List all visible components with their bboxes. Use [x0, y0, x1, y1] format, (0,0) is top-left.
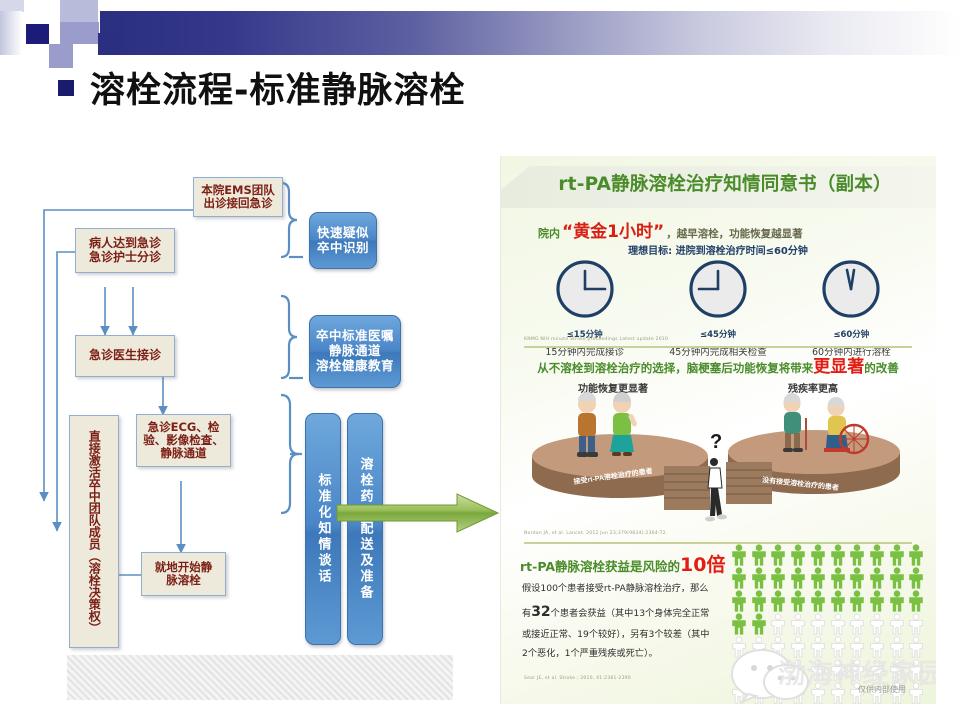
header-gradient-band	[100, 11, 960, 55]
person-icon-benefit	[868, 544, 886, 566]
person-icon-benefit	[789, 590, 807, 612]
clock-icon-15min	[554, 258, 616, 320]
flow-blue-informed-consent-text: 标准化知情谈话	[317, 473, 330, 585]
reference-section3: Sear JE, et al. Stroke ; 2010, 41:2381-2…	[524, 676, 631, 681]
person-icon-benefit	[789, 544, 807, 566]
person-icon-benefit	[809, 544, 827, 566]
person-icon-benefit	[769, 567, 787, 589]
flow-blue-rapid-recognition-text: 快速疑似卒中识别	[317, 226, 369, 256]
section3-body-line4: 2个恶化，1个严重残疾或死亡）。	[522, 645, 730, 663]
person-icon-neutral	[809, 613, 827, 635]
flow-box-er-doctor: 急诊医生接诊	[75, 335, 175, 377]
watermark-note: 仅供内部使用	[858, 684, 906, 695]
section2-title: 从不溶栓到溶栓治疗的选择，脑梗塞后功能恢复将带来更显著的改善	[500, 352, 936, 377]
section3-title-prefix: rt-PA静脉溶栓获益是风险的	[520, 556, 680, 575]
flow-box-ecg-labs: 急诊ECG、检验、影像检查、静脉通道	[136, 414, 231, 467]
clock-row: ≤15分钟 15分钟内完成接诊 ≤45分钟 45分钟内完成相关检查 ≤60分	[518, 258, 918, 358]
page-title-text: 溶栓流程-标准静脉溶栓	[90, 62, 466, 113]
flow-box-er-doctor-text: 急诊医生接诊	[89, 349, 161, 362]
flow-box-activate-team: 直接激活卒中团队成员（溶栓决策权）	[69, 415, 119, 648]
person-icon-benefit	[750, 590, 768, 612]
person-icon-benefit	[730, 590, 748, 612]
divider-1	[524, 346, 912, 348]
section3-body: 假设100个患者接受rt-PA静脉溶栓治疗，那么 有32个患者会获益（其中13个…	[522, 580, 730, 663]
person-icon-benefit	[888, 544, 906, 566]
person-icon-benefit	[829, 567, 847, 589]
person-icon-neutral	[868, 613, 886, 635]
section2-title-suffix: 的改善	[864, 361, 899, 375]
clock-icon-45min	[687, 258, 749, 320]
person-icon-benefit	[809, 567, 827, 589]
flow-box-arrival: 病人达到急诊急诊护士分诊	[75, 228, 175, 273]
header-deco-square-3	[24, 0, 44, 22]
person-icon-benefit	[750, 613, 768, 635]
person-icon-benefit	[868, 567, 886, 589]
clock-icon-60min	[820, 258, 882, 320]
podium-illustration: 接受rt-PA溶栓治疗的患者	[514, 392, 924, 544]
header-deco-square-4	[60, 0, 98, 22]
person-icon-neutral	[769, 613, 787, 635]
clock-cell-45: ≤45分钟 45分钟内完成相关检查	[658, 258, 778, 358]
question-mark-icon: ?	[710, 431, 722, 453]
person-icon-benefit	[907, 567, 925, 589]
section3-benefit-count: 32	[531, 604, 550, 620]
flow-blue-rapid-recognition: 快速疑似卒中识别	[309, 212, 377, 269]
person-icon-benefit	[769, 544, 787, 566]
watermark-brand: 渤海神经家园	[778, 652, 936, 691]
header-deco-square-navy	[26, 24, 49, 44]
person-icon-benefit	[750, 567, 768, 589]
flow-box-ecg-labs-text: 急诊ECG、检验、影像检查、静脉通道	[143, 421, 224, 460]
flow-box-activate-team-text: 直接激活卒中团队成员（溶栓决策权）	[88, 430, 101, 634]
consent-document-image: rt-PA静脉溶栓治疗知情同意书（副本） 院内 “黄金1小时” ，越早溶栓，功能…	[500, 156, 936, 704]
flow-box-arrival-text: 病人达到急诊急诊护士分诊	[89, 237, 161, 264]
reference-section2: Nordan JA, et al. Lancet. 2012 Jun 23;37…	[524, 531, 668, 536]
flow-blue-stroke-orders: 卒中标准医嘱静脉通道溶栓健康教育	[309, 315, 401, 388]
person-icon-neutral	[907, 613, 925, 635]
person-icon-benefit	[730, 544, 748, 566]
person-icon-neutral	[829, 613, 847, 635]
section3-title: rt-PA静脉溶栓获益是风险的10倍	[520, 550, 725, 577]
person-icon-benefit	[848, 544, 866, 566]
section3-title-highlight: 10倍	[680, 550, 725, 577]
flow-box-start-iv: 就地开始静脉溶栓	[141, 552, 226, 596]
flow-blue-stroke-orders-text: 卒中标准医嘱静脉通道溶栓健康教育	[316, 329, 394, 373]
header-deco-square-9	[98, 33, 120, 55]
flow-box-start-iv-text: 就地开始静脉溶栓	[155, 561, 213, 587]
person-icon-benefit	[730, 567, 748, 589]
clock-cell-60: ≤60分钟 60分钟内进行溶栓	[791, 258, 911, 358]
thrombolysis-workflow-diagram: 本院EMS团队出诊接回急诊 病人达到急诊急诊护士分诊 急诊医生接诊 急诊ECG、…	[33, 163, 453, 700]
slide-root: 溶栓流程-标准静脉溶栓	[0, 0, 960, 720]
section3-body-line1: 假设100个患者接受rt-PA静脉溶栓治疗，那么	[522, 580, 730, 598]
section2-title-highlight: 更显著	[813, 357, 864, 377]
golden-hour-highlight: “黄金1小时”	[562, 217, 664, 242]
person-icon-benefit	[868, 590, 886, 612]
square-bullet-icon	[58, 80, 74, 96]
person-icon-benefit	[888, 567, 906, 589]
person-icon-benefit	[907, 544, 925, 566]
flow-box-ems-line1: 本院EMS团队出诊接回急诊	[201, 184, 275, 210]
reference-section1: KNMG NIH minute Stroke proceedings Lates…	[524, 337, 668, 342]
golden-hour-line: 院内 “黄金1小时” ，越早溶栓，功能恢复越显著	[538, 217, 803, 242]
person-icon-benefit	[848, 590, 866, 612]
person-icon-benefit	[848, 567, 866, 589]
header-deco-square-6	[73, 22, 99, 44]
person-icon-benefit	[888, 590, 906, 612]
section3-body-line3: 或接近正常、19个较好），另有3个较差（其中	[522, 626, 730, 644]
person-icon-benefit	[809, 590, 827, 612]
section2-title-prefix: 从不溶栓到溶栓治疗的选择，脑梗塞后功能恢复将带来	[537, 361, 813, 375]
person-icon-benefit	[829, 590, 847, 612]
ideal-goal-text: 理想目标: 进院到溶栓治疗时间≤60分钟	[500, 242, 936, 257]
section3-line2-suffix: 个患者会获益（其中13个身体完全正常	[551, 608, 710, 619]
person-icon-benefit	[829, 544, 847, 566]
golden-hour-tail: ，越早溶栓，功能恢复越显著	[666, 226, 803, 241]
document-title: rt-PA静脉溶栓治疗知情同意书（副本）	[520, 170, 930, 196]
person-icon-benefit	[750, 544, 768, 566]
person-icon-neutral	[848, 613, 866, 635]
person-icon-benefit	[789, 567, 807, 589]
person-icon-benefit	[769, 590, 787, 612]
section3-line2-prefix: 有	[522, 608, 531, 619]
person-icon-benefit	[907, 590, 925, 612]
person-icon-benefit	[730, 613, 748, 635]
clock-cap-60: ≤60分钟	[791, 328, 911, 340]
flow-box-ems: 本院EMS团队出诊接回急诊	[193, 177, 283, 217]
page-title: 溶栓流程-标准静脉溶栓	[58, 62, 466, 113]
header-deco-square-2	[0, 11, 22, 55]
green-arrow	[335, 492, 500, 534]
clock-cell-15: ≤15分钟 15分钟内完成接诊	[525, 258, 645, 358]
person-icon-neutral	[789, 613, 807, 635]
section3-body-line2: 有32个患者会获益（其中13个身体完全正常	[522, 598, 730, 626]
clock-cap-45: ≤45分钟	[658, 328, 778, 340]
golden-hour-prefix: 院内	[538, 225, 560, 241]
person-icon-neutral	[888, 613, 906, 635]
